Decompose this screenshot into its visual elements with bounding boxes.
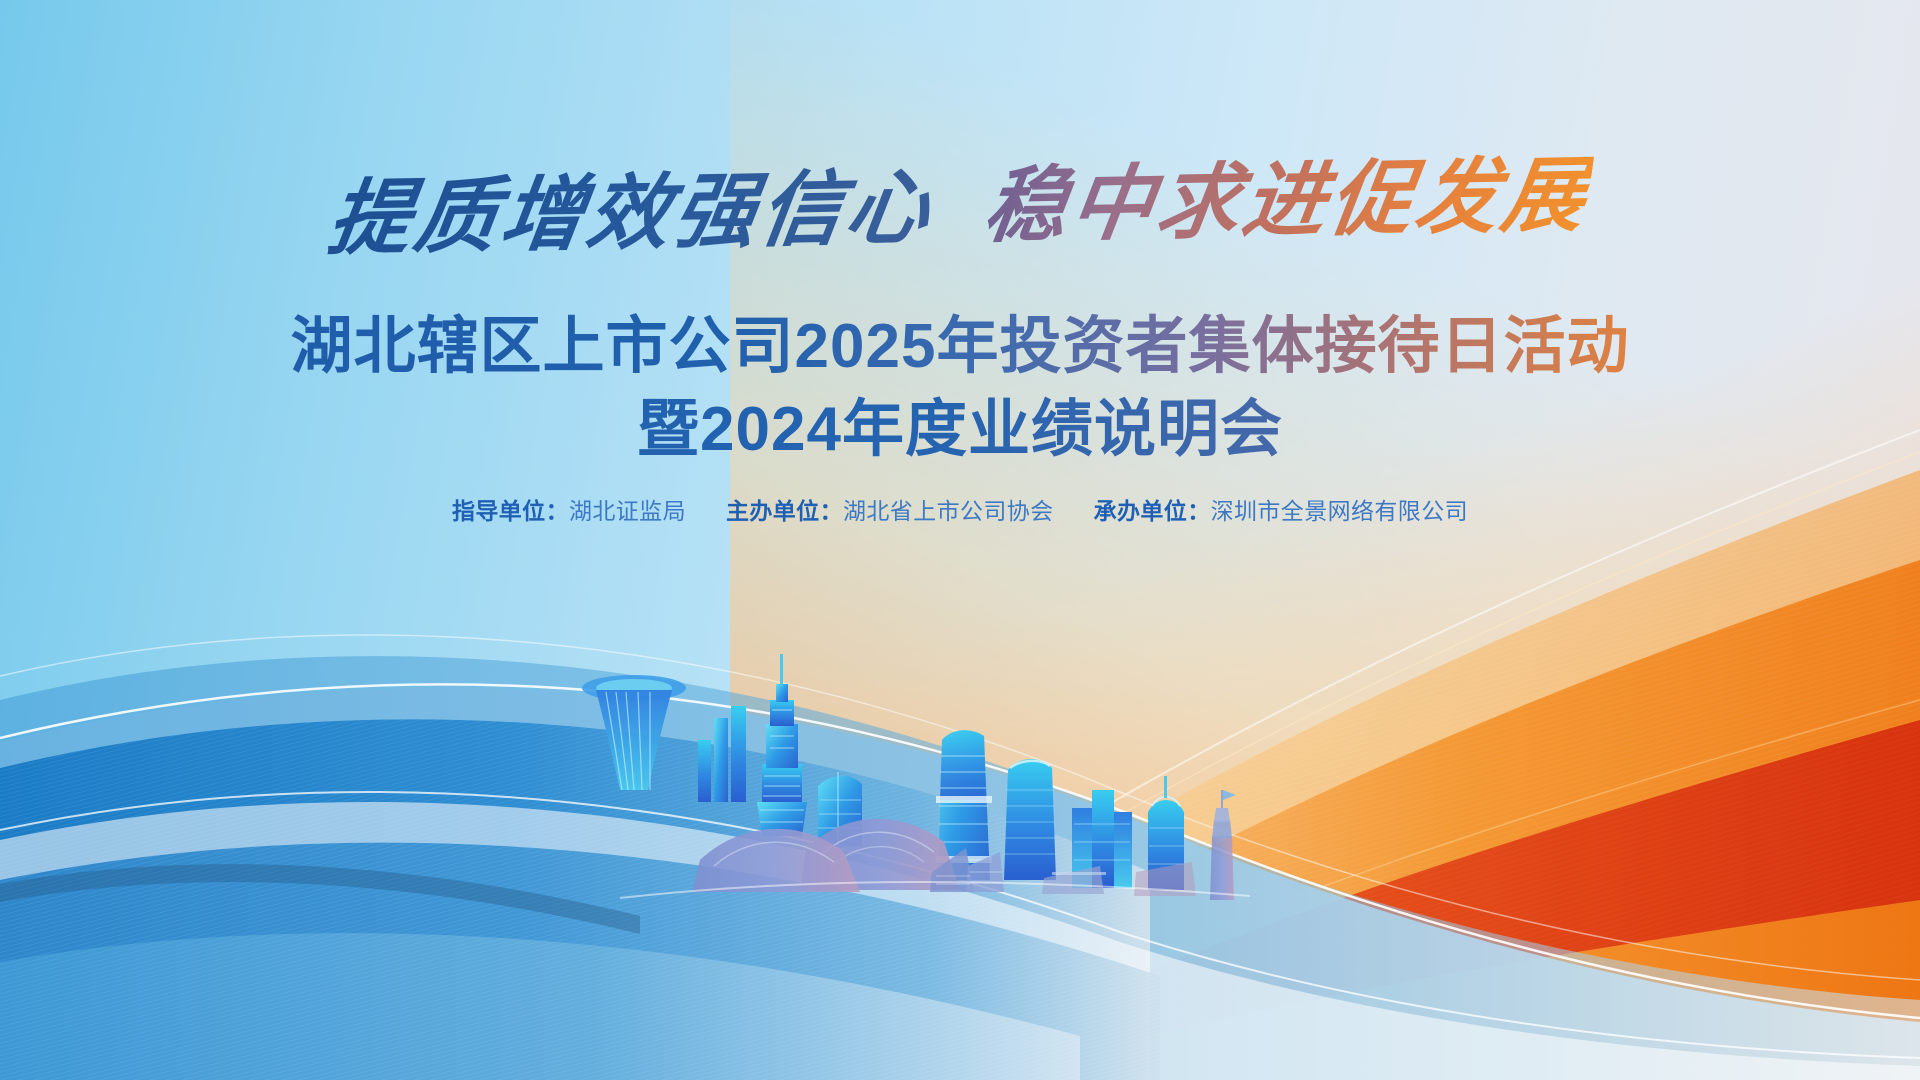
banner-content: 提质增效强信心稳中求进促发展 湖北辖区上市公司2025年投资者集体接待日活动 暨… — [0, 0, 1920, 1080]
credit-organizer: 承办单位：深圳市全景网络有限公司 — [1094, 492, 1468, 526]
organizer-credits: 指导单位：湖北证监局 主办单位：湖北省上市公司协会 承办单位：深圳市全景网络有限… — [0, 492, 1920, 526]
banner-stage: 提质增效强信心稳中求进促发展 湖北辖区上市公司2025年投资者集体接待日活动 暨… — [0, 0, 1920, 1080]
credit-guidance: 指导单位：湖北证监局 — [452, 492, 686, 526]
credit-organizer-label: 承办单位： — [1094, 498, 1211, 524]
credit-guidance-value: 湖北证监局 — [569, 498, 686, 524]
credit-organizer-value: 深圳市全景网络有限公司 — [1211, 498, 1468, 524]
credit-host: 主办单位：湖北省上市公司协会 — [726, 492, 1054, 526]
event-title-line2: 暨2024年度业绩说明会 — [0, 378, 1920, 468]
credit-host-value: 湖北省上市公司协会 — [843, 498, 1054, 524]
event-title-line1: 湖北辖区上市公司2025年投资者集体接待日活动 — [0, 295, 1920, 385]
slogan-phrase-right: 稳中求进促发展 — [978, 147, 1595, 255]
credit-host-label: 主办单位： — [726, 498, 843, 524]
calligraphy-slogan: 提质增效强信心稳中求进促发展 — [0, 122, 1920, 278]
credit-guidance-label: 指导单位： — [452, 498, 569, 524]
slogan-phrase-left: 提质增效强信心 — [322, 159, 945, 267]
